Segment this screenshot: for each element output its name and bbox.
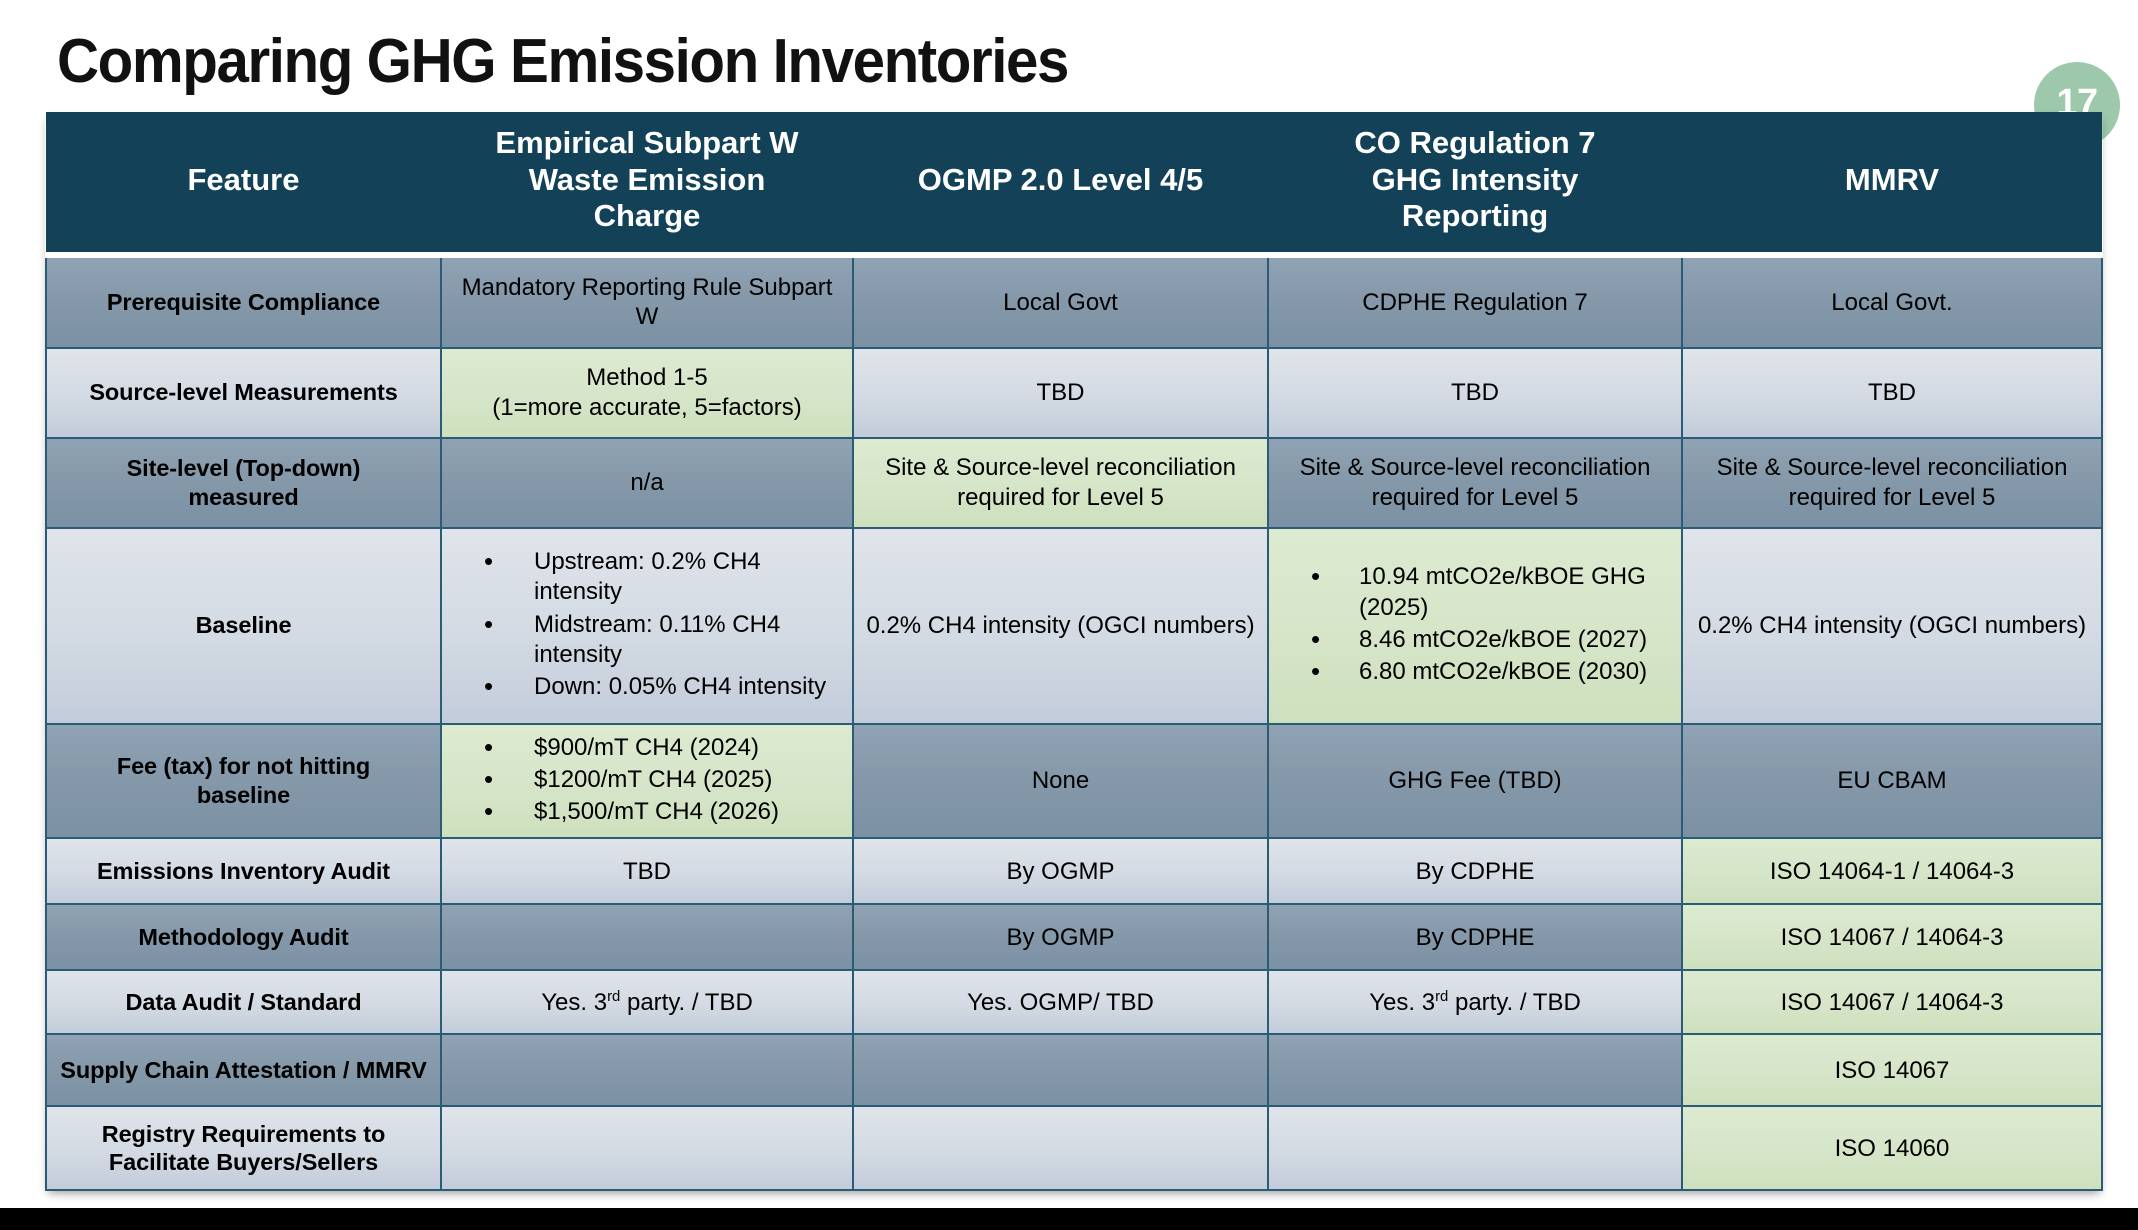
cell-emissions-audit-subpart-w: TBD: [441, 838, 853, 904]
cell-supply-chain-co7: [1268, 1034, 1682, 1106]
row-label-methodology-audit: Methodology Audit: [46, 904, 441, 970]
bottom-letterbox-bar: [0, 1208, 2138, 1230]
row-label-fee-line1: Fee (tax) for not hitting: [57, 752, 430, 781]
column-header-subpart-w-line2: Waste Emission: [451, 162, 843, 199]
column-header-co7-line1: CO Regulation 7: [1278, 125, 1672, 162]
comparison-table: Feature Empirical Subpart W Waste Emissi…: [45, 112, 2103, 1191]
row-label-fee-line2: baseline: [57, 781, 430, 810]
cell-data-audit-ogmp: Yes. OGMP/ TBD: [853, 970, 1268, 1034]
table-row: Supply Chain Attestation / MMRV ISO 1406…: [46, 1034, 2102, 1106]
comparison-table-wrapper: Feature Empirical Subpart W Waste Emissi…: [45, 112, 2101, 1191]
table-row: Registry Requirements to Facilitate Buye…: [46, 1106, 2102, 1190]
cell-data-audit-subpart-w: Yes. 3rd party. / TBD: [441, 970, 853, 1034]
row-label-supply-chain-attestation: Supply Chain Attestation / MMRV: [46, 1034, 441, 1106]
table-header: Feature Empirical Subpart W Waste Emissi…: [46, 112, 2102, 255]
baseline-subpart-w-list: Upstream: 0.2% CH4 intensity Midstream: …: [476, 547, 842, 702]
row-label-site-level-line2: measured: [57, 483, 430, 512]
cell-source-level-subpart-w-line2: (1=more accurate, 5=factors): [452, 393, 842, 422]
cell-methodology-audit-mmrv: ISO 14067 / 14064-3: [1682, 904, 2102, 970]
cell-methodology-audit-ogmp: By OGMP: [853, 904, 1268, 970]
cell-registry-subpart-w: [441, 1106, 853, 1190]
column-header-co7-line2: GHG Intensity: [1278, 162, 1672, 199]
column-header-co7-line3: Reporting: [1278, 198, 1672, 235]
cell-data-audit-mmrv: ISO 14067 / 14064-3: [1682, 970, 2102, 1034]
cell-emissions-audit-co7: By CDPHE: [1268, 838, 1682, 904]
row-label-prerequisite-compliance: Prerequisite Compliance: [46, 255, 441, 348]
table-row: Prerequisite Compliance Mandatory Report…: [46, 255, 2102, 348]
table-row: Methodology Audit By OGMP By CDPHE ISO 1…: [46, 904, 2102, 970]
list-item: 8.46 mtCO2e/kBOE (2027): [1303, 625, 1671, 655]
row-label-site-level-measured: Site-level (Top-down) measured: [46, 438, 441, 528]
table-row: Fee (tax) for not hitting baseline $900/…: [46, 724, 2102, 839]
cell-supply-chain-subpart-w: [441, 1034, 853, 1106]
cell-site-level-ogmp: Site & Source-level reconciliation requi…: [853, 438, 1268, 528]
cell-supply-chain-ogmp: [853, 1034, 1268, 1106]
cell-site-level-subpart-w: n/a: [441, 438, 853, 528]
column-header-subpart-w-line3: Charge: [451, 198, 843, 235]
cell-registry-mmrv: ISO 14060: [1682, 1106, 2102, 1190]
table-row: Data Audit / Standard Yes. 3rd party. / …: [46, 970, 2102, 1034]
cell-emissions-audit-mmrv: ISO 14064-1 / 14064-3: [1682, 838, 2102, 904]
cell-methodology-audit-co7: By CDPHE: [1268, 904, 1682, 970]
list-item: $1,500/mT CH4 (2026): [476, 797, 842, 827]
cell-fee-subpart-w: $900/mT CH4 (2024) $1200/mT CH4 (2025) $…: [441, 724, 853, 839]
cell-prerequisite-co7: CDPHE Regulation 7: [1268, 255, 1682, 348]
row-label-emissions-inventory-audit: Emissions Inventory Audit: [46, 838, 441, 904]
list-item: Midstream: 0.11% CH4 intensity: [476, 610, 842, 670]
page-title: Comparing GHG Emission Inventories: [57, 26, 1068, 97]
cell-prerequisite-ogmp: Local Govt: [853, 255, 1268, 348]
cell-data-audit-co7-pre: Yes. 3: [1369, 989, 1435, 1016]
row-label-registry-line1: Registry Requirements to: [57, 1120, 430, 1149]
cell-methodology-audit-subpart-w: [441, 904, 853, 970]
row-label-fee-for-not-hitting-baseline: Fee (tax) for not hitting baseline: [46, 724, 441, 839]
cell-source-level-mmrv: TBD: [1682, 348, 2102, 438]
slide-canvas: 17 Comparing GHG Emission Inventories Fe…: [0, 0, 2138, 1230]
column-header-mmrv: MMRV: [1682, 112, 2102, 255]
header-row: Feature Empirical Subpart W Waste Emissi…: [46, 112, 2102, 255]
table-row: Source-level Measurements Method 1-5 (1=…: [46, 348, 2102, 438]
cell-prerequisite-subpart-w: Mandatory Reporting Rule Subpart W: [441, 255, 853, 348]
cell-source-level-subpart-w-line1: Method 1-5: [452, 363, 842, 392]
table-row: Baseline Upstream: 0.2% CH4 intensity Mi…: [46, 528, 2102, 724]
cell-emissions-audit-ogmp: By OGMP: [853, 838, 1268, 904]
list-item: Upstream: 0.2% CH4 intensity: [476, 547, 842, 607]
table-row: Site-level (Top-down) measured n/a Site …: [46, 438, 2102, 528]
column-header-ogmp: OGMP 2.0 Level 4/5: [853, 112, 1268, 255]
column-header-feature: Feature: [46, 112, 441, 255]
baseline-co7-list: 10.94 mtCO2e/kBOE GHG (2025) 8.46 mtCO2e…: [1303, 562, 1671, 687]
list-item: $900/mT CH4 (2024): [476, 733, 842, 763]
list-item: 10.94 mtCO2e/kBOE GHG (2025): [1303, 562, 1671, 622]
cell-fee-co7: GHG Fee (TBD): [1268, 724, 1682, 839]
cell-source-level-subpart-w: Method 1-5 (1=more accurate, 5=factors): [441, 348, 853, 438]
column-header-feature-line1: Feature: [56, 162, 431, 199]
column-header-mmrv-line1: MMRV: [1692, 162, 2092, 199]
table-body: Prerequisite Compliance Mandatory Report…: [46, 255, 2102, 1191]
cell-source-level-co7: TBD: [1268, 348, 1682, 438]
cell-site-level-mmrv: Site & Source-level reconciliation requi…: [1682, 438, 2102, 528]
cell-registry-co7: [1268, 1106, 1682, 1190]
column-header-subpart-w-line1: Empirical Subpart W: [451, 125, 843, 162]
row-label-registry-line2: Facilitate Buyers/Sellers: [57, 1148, 430, 1177]
row-label-data-audit-standard: Data Audit / Standard: [46, 970, 441, 1034]
list-item: Down: 0.05% CH4 intensity: [476, 672, 842, 702]
list-item: $1200/mT CH4 (2025): [476, 765, 842, 795]
list-item: 6.80 mtCO2e/kBOE (2030): [1303, 657, 1671, 687]
cell-prerequisite-mmrv: Local Govt.: [1682, 255, 2102, 348]
cell-fee-ogmp: None: [853, 724, 1268, 839]
cell-source-level-ogmp: TBD: [853, 348, 1268, 438]
row-label-site-level-line1: Site-level (Top-down): [57, 454, 430, 483]
cell-data-audit-co7-post: party. / TBD: [1448, 989, 1580, 1016]
row-label-baseline: Baseline: [46, 528, 441, 724]
row-label-source-level-measurements: Source-level Measurements: [46, 348, 441, 438]
cell-data-audit-co7-sup: rd: [1435, 989, 1448, 1005]
fee-subpart-w-list: $900/mT CH4 (2024) $1200/mT CH4 (2025) $…: [476, 733, 842, 828]
cell-data-audit-co7: Yes. 3rd party. / TBD: [1268, 970, 1682, 1034]
column-header-co7: CO Regulation 7 GHG Intensity Reporting: [1268, 112, 1682, 255]
cell-supply-chain-mmrv: ISO 14067: [1682, 1034, 2102, 1106]
cell-baseline-ogmp: 0.2% CH4 intensity (OGCI numbers): [853, 528, 1268, 724]
table-row: Emissions Inventory Audit TBD By OGMP By…: [46, 838, 2102, 904]
cell-baseline-subpart-w: Upstream: 0.2% CH4 intensity Midstream: …: [441, 528, 853, 724]
row-label-registry-requirements: Registry Requirements to Facilitate Buye…: [46, 1106, 441, 1190]
cell-site-level-co7: Site & Source-level reconciliation requi…: [1268, 438, 1682, 528]
cell-registry-ogmp: [853, 1106, 1268, 1190]
cell-baseline-mmrv: 0.2% CH4 intensity (OGCI numbers): [1682, 528, 2102, 724]
cell-fee-mmrv: EU CBAM: [1682, 724, 2102, 839]
column-header-subpart-w: Empirical Subpart W Waste Emission Charg…: [441, 112, 853, 255]
cell-data-audit-subpart-w-post: party. / TBD: [620, 989, 752, 1016]
cell-baseline-co7: 10.94 mtCO2e/kBOE GHG (2025) 8.46 mtCO2e…: [1268, 528, 1682, 724]
cell-data-audit-subpart-w-sup: rd: [607, 989, 620, 1005]
cell-data-audit-subpart-w-pre: Yes. 3: [541, 989, 607, 1016]
column-header-ogmp-line1: OGMP 2.0 Level 4/5: [863, 162, 1258, 199]
